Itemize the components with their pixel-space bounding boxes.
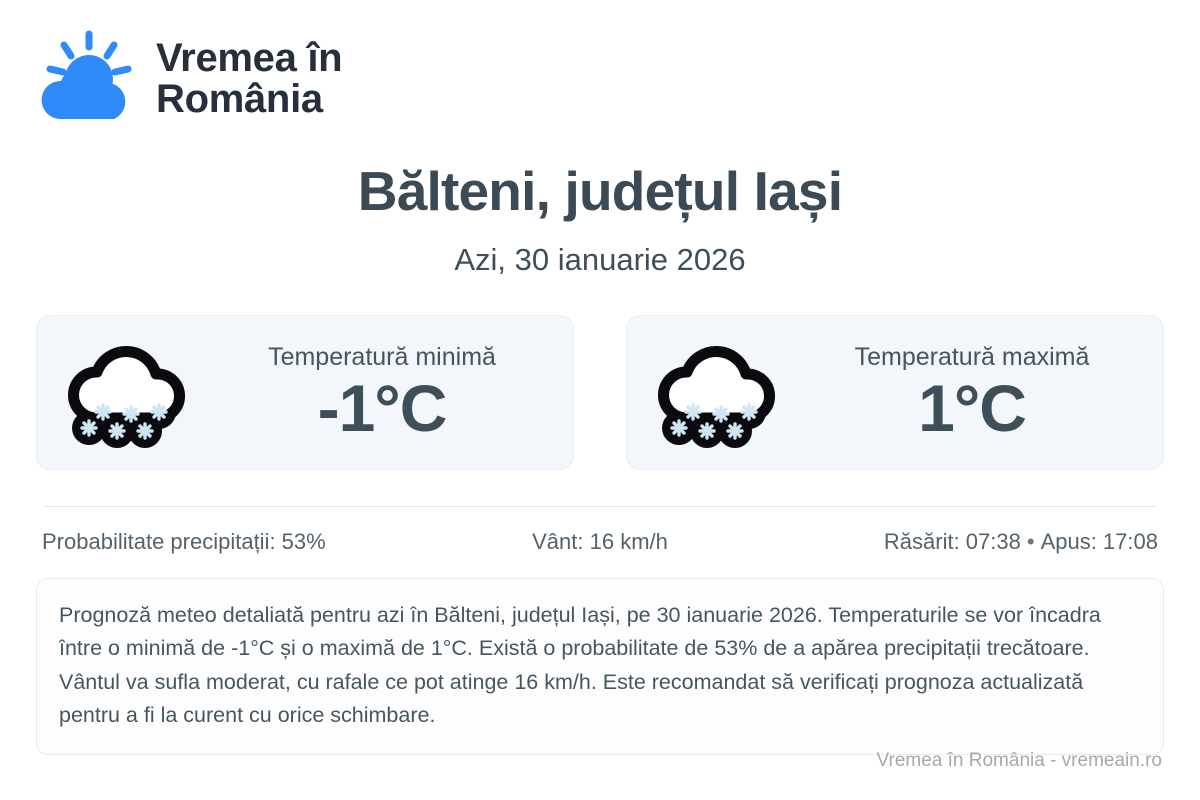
sun-behind-cloud-icon <box>36 29 140 129</box>
card-min-label: Temperatură minimă <box>217 342 547 372</box>
card-max-label: Temperatură maximă <box>807 342 1137 372</box>
card-temperature-max: Temperatură maximă 1°C <box>626 315 1164 470</box>
stat-sun-times: Răsărit: 07:38•Apus: 17:08 <box>786 529 1158 555</box>
forecast-description: Prognoză meteo detaliată pentru azi în B… <box>36 578 1164 755</box>
stat-separator: • <box>1021 529 1041 554</box>
temperature-cards: Temperatură minimă -1°C <box>36 315 1164 470</box>
page-title: Bălteni, județul Iași <box>36 162 1164 221</box>
stats-divider <box>44 506 1156 507</box>
snow-cloud-icon <box>63 334 201 452</box>
card-max-value: 1°C <box>807 374 1137 443</box>
card-min-body: Temperatură minimă -1°C <box>217 342 553 443</box>
stat-sunset: Apus: 17:08 <box>1041 529 1158 554</box>
stats-row: Probabilitate precipitații: 53% Vânt: 16… <box>36 529 1164 555</box>
weather-page: Vremea în România Bălteni, județul Iași … <box>0 0 1200 800</box>
stat-sunrise: Răsărit: 07:38 <box>884 529 1021 554</box>
brand-logo[interactable]: Vremea în România <box>36 0 1164 110</box>
stat-precipitation: Probabilitate precipitații: 53% <box>42 529 414 555</box>
card-min-value: -1°C <box>217 374 547 443</box>
page-subtitle: Azi, 30 ianuarie 2026 <box>36 243 1164 277</box>
card-max-body: Temperatură maximă 1°C <box>807 342 1143 443</box>
brand-name: Vremea în România <box>156 38 342 120</box>
stat-wind: Vânt: 16 km/h <box>414 529 786 555</box>
footer-credit: Vremea în România - vremeain.ro <box>877 750 1162 772</box>
card-temperature-min: Temperatură minimă -1°C <box>36 315 574 470</box>
snow-cloud-icon <box>653 334 791 452</box>
